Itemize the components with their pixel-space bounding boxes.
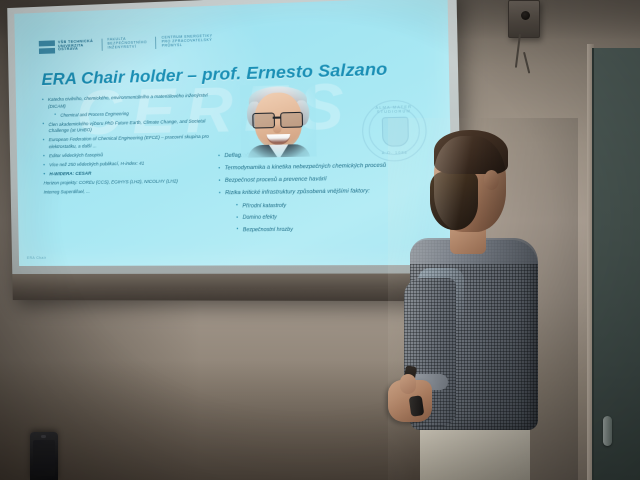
bullet-item: Domino efekty bbox=[236, 212, 413, 222]
portrait-photo bbox=[240, 83, 317, 158]
bullet-item: Bezpečnostní hrozby bbox=[236, 224, 413, 234]
bullet-item: European Federation of Chemical Engineer… bbox=[43, 134, 220, 152]
bullet-item: H-WIDERA: CESAR bbox=[43, 169, 220, 179]
presenter-wristwatch bbox=[409, 395, 425, 417]
door-lock-icon bbox=[598, 404, 616, 410]
floor-device[interactable] bbox=[30, 432, 58, 480]
faculty-line-3: INŽENÝRSTVÍ bbox=[108, 45, 148, 50]
wall-speaker bbox=[508, 0, 540, 38]
vsb-logo-words: VŠB TECHNICKÁ UNIVERZITA OSTRAVA bbox=[58, 40, 93, 53]
speaker-cone-icon bbox=[521, 11, 530, 20]
slide-left-column: Katedra civilního, chemického, environme… bbox=[42, 92, 221, 199]
portrait-fade-mask bbox=[240, 83, 317, 158]
floor-shadow bbox=[0, 360, 430, 480]
room-door[interactable] bbox=[592, 48, 640, 480]
slide-title: ERA Chair holder – prof. Ernesto Salzano bbox=[41, 60, 387, 90]
bullet-item: Katedra civilního, chemického, environme… bbox=[42, 92, 219, 111]
seal-top-text: ALMA MATER STUDIORUM bbox=[363, 105, 425, 115]
bullet-item: Více než 250 vědeckých publikací, H-inde… bbox=[43, 159, 220, 169]
presenter bbox=[388, 118, 578, 480]
bullet-item: Horizon projekty: COREu (CCS), EGIHYS (L… bbox=[43, 178, 220, 188]
presenter-face-shading bbox=[434, 136, 506, 232]
right-bullet-list: Deflagrační a detonační hořeníTermodynam… bbox=[218, 148, 413, 234]
door-handle[interactable] bbox=[603, 416, 612, 446]
device-screen bbox=[33, 440, 55, 476]
bullet-item: Interreg Superdifuel, ... bbox=[44, 187, 221, 196]
bullet-item: Člen akademického výboru PhD Future Eart… bbox=[42, 118, 219, 136]
bullet-item: Termodynamika a kinetika nebezpečných ch… bbox=[218, 161, 412, 173]
vsb-logo-mark-icon bbox=[39, 40, 55, 54]
logo-line-3: OSTRAVA bbox=[58, 47, 93, 52]
slide-logo-row: VŠB TECHNICKÁ UNIVERZITA OSTRAVA FAKULTA… bbox=[39, 35, 213, 54]
bullet-item: Bezpečnost procesů a prevence havárií bbox=[218, 174, 412, 186]
bullet-item: Rizika kritické infrastruktury způsobená… bbox=[219, 187, 413, 199]
centre-logo-words: CENTRUM ENERGETIKY PRO ZPRACOVATELSKÝ PR… bbox=[155, 35, 212, 49]
faculty-logo-words: FAKULTA BEZPEČNOSTNÍHO INŽENÝRSTVÍ bbox=[101, 37, 147, 51]
presenter-thumb bbox=[400, 374, 416, 394]
bullet-item: Přírodní katastrofy bbox=[236, 200, 413, 210]
left-bullet-list: Katedra civilního, chemického, environme… bbox=[42, 92, 221, 197]
vsb-logo: VŠB TECHNICKÁ UNIVERZITA OSTRAVA bbox=[39, 39, 94, 54]
bullet-item: Editor vědeckých časopisů bbox=[43, 150, 220, 160]
slide-footer: ERA Chair bbox=[27, 256, 47, 260]
slide-right-column: Deflagrační a detonační hořeníTermodynam… bbox=[218, 148, 413, 237]
device-led-icon bbox=[41, 435, 46, 438]
lecture-room-photo: CERES VŠB TECHNICKÁ UNIVERZITA OSTRAVA F… bbox=[0, 0, 640, 480]
